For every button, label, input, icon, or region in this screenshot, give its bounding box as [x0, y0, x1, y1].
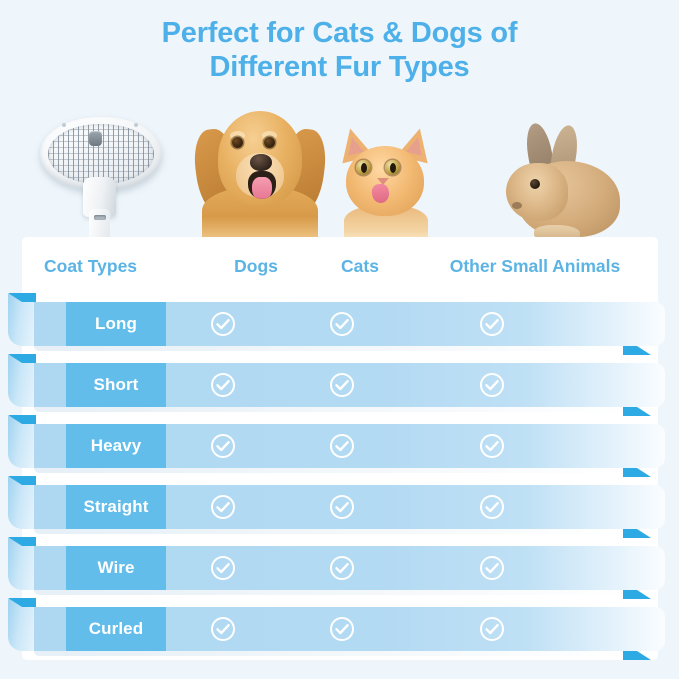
table-row: Long [0, 302, 679, 346]
cell-dogs [166, 302, 280, 346]
ribbon-tip-right [623, 407, 651, 416]
ribbon-tip-right [623, 468, 651, 477]
brush-screw-left [62, 123, 66, 127]
coat-type-label: Long [95, 314, 137, 334]
ribbon-tip-right [623, 590, 651, 599]
dog-eye-right [264, 137, 275, 148]
cell-other-small-animals [404, 546, 580, 590]
check-circle-icon [329, 616, 355, 642]
coat-type-chip: Short [66, 363, 166, 407]
hero-image-strip [0, 96, 679, 241]
rabbit-nose [512, 202, 522, 209]
cell-other-small-animals [404, 363, 580, 407]
check-circle-icon [210, 372, 236, 398]
ribbon-notch-left [8, 293, 36, 302]
cell-cats [280, 485, 404, 529]
dog-eye-left [232, 137, 243, 148]
check-circle-icon [479, 433, 505, 459]
cell-cats [280, 363, 404, 407]
check-circle-icon [210, 311, 236, 337]
ribbon-notch-left [8, 415, 36, 424]
tan-rabbit-icon [500, 123, 620, 241]
coat-type-chip: Wire [66, 546, 166, 590]
check-circle-icon [329, 555, 355, 581]
check-circle-icon [210, 494, 236, 520]
cell-dogs [166, 546, 280, 590]
coat-type-label: Straight [83, 497, 148, 517]
cell-cats [280, 607, 404, 651]
cell-other-small-animals [404, 302, 580, 346]
table-header-row: Coat Types Dogs Cats Other Small Animals [22, 237, 658, 295]
cell-other-small-animals [404, 485, 580, 529]
ribbon-band: Curled [34, 607, 665, 651]
table-header-other-small-animals: Other Small Animals [412, 256, 658, 277]
cell-dogs [166, 485, 280, 529]
coat-type-chip: Heavy [66, 424, 166, 468]
coat-type-label: Wire [97, 558, 134, 578]
page-title-line-2: Different Fur Types [0, 50, 679, 84]
comparison-table-body: Long Short [0, 302, 679, 668]
check-circle-icon [329, 311, 355, 337]
table-row: Curled [0, 607, 679, 651]
table-row: Wire [0, 546, 679, 590]
ribbon-tip-right [623, 529, 651, 538]
check-circle-icon [479, 494, 505, 520]
dog-mouth [248, 171, 276, 199]
brush-release-button [89, 131, 102, 146]
ribbon-band: Wire [34, 546, 665, 590]
check-circle-icon [210, 433, 236, 459]
cell-cats [280, 424, 404, 468]
table-row: Straight [0, 485, 679, 529]
ribbon-band: Straight [34, 485, 665, 529]
cell-dogs [166, 363, 280, 407]
check-circle-icon [479, 555, 505, 581]
check-circle-icon [479, 311, 505, 337]
dog-tongue [252, 177, 272, 199]
coat-type-label: Heavy [91, 436, 142, 456]
cell-dogs [166, 424, 280, 468]
table-row: Short [0, 363, 679, 407]
check-circle-icon [329, 494, 355, 520]
coat-type-chip: Curled [66, 607, 166, 651]
ginger-kitten-icon [336, 128, 434, 241]
cat-pupil-right [390, 163, 396, 173]
cell-other-small-animals [404, 607, 580, 651]
coat-type-label: Short [94, 375, 139, 395]
brush-screw-right [134, 123, 138, 127]
golden-retriever-dog-icon [196, 103, 324, 241]
ribbon-band: Long [34, 302, 665, 346]
ribbon-band: Heavy [34, 424, 665, 468]
cat-nose [377, 178, 389, 185]
coat-type-label: Curled [89, 619, 143, 639]
cell-dogs [166, 607, 280, 651]
cell-cats [280, 546, 404, 590]
rabbit-eye [530, 179, 540, 189]
coat-type-chip: Long [66, 302, 166, 346]
table-header-cats: Cats [308, 256, 412, 277]
ribbon-notch-left [8, 598, 36, 607]
check-circle-icon [479, 616, 505, 642]
rabbit-head [506, 163, 568, 221]
pet-grooming-brush-icon [36, 109, 166, 241]
table-header-coat-types: Coat Types [22, 256, 204, 277]
check-circle-icon [210, 555, 236, 581]
coat-type-chip: Straight [66, 485, 166, 529]
ribbon-notch-left [8, 354, 36, 363]
check-circle-icon [479, 372, 505, 398]
check-circle-icon [210, 616, 236, 642]
ribbon-band: Short [34, 363, 665, 407]
table-row: Heavy [0, 424, 679, 468]
page-title: Perfect for Cats & Dogs of Different Fur… [0, 16, 679, 84]
check-circle-icon [329, 372, 355, 398]
dog-nose [250, 154, 272, 171]
cell-other-small-animals [404, 424, 580, 468]
ribbon-tip-right [623, 346, 651, 355]
ribbon-notch-left [8, 476, 36, 485]
check-circle-icon [329, 433, 355, 459]
page-title-line-1: Perfect for Cats & Dogs of [0, 16, 679, 50]
table-header-dogs: Dogs [204, 256, 308, 277]
brush-charge-port [94, 215, 106, 220]
cat-pupil-left [361, 163, 367, 173]
ribbon-tip-right [623, 651, 651, 660]
cell-cats [280, 302, 404, 346]
ribbon-notch-left [8, 537, 36, 546]
